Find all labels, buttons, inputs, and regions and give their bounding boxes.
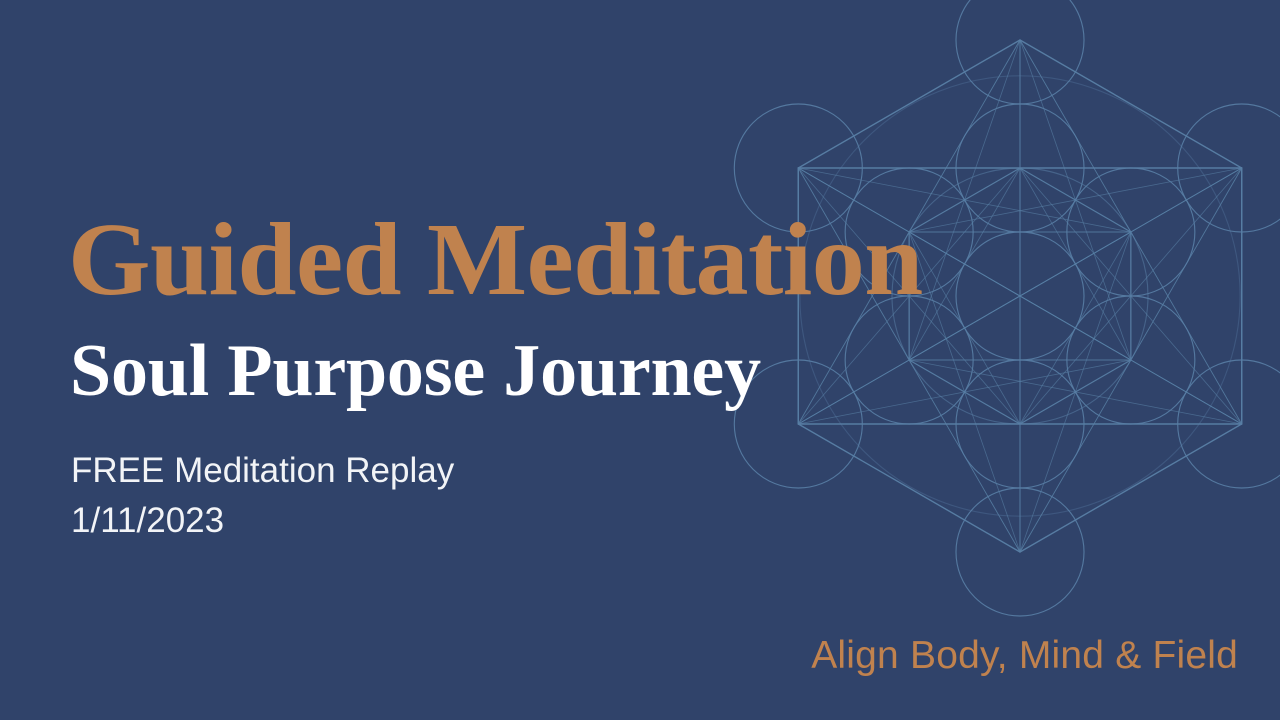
page-subtitle: Soul Purpose Journey bbox=[70, 334, 988, 408]
detail-line-date: 1/11/2023 bbox=[71, 496, 988, 546]
presentation-slide: Guided Meditation Soul Purpose Journey F… bbox=[0, 0, 1280, 720]
detail-lines: FREE Meditation Replay 1/11/2023 bbox=[71, 446, 988, 545]
page-title: Guided Meditation bbox=[68, 208, 1006, 312]
detail-line-offer: FREE Meditation Replay bbox=[71, 446, 988, 496]
slide-text-block: Guided Meditation Soul Purpose Journey F… bbox=[68, 208, 988, 545]
tagline: Align Body, Mind & Field bbox=[811, 634, 1238, 678]
